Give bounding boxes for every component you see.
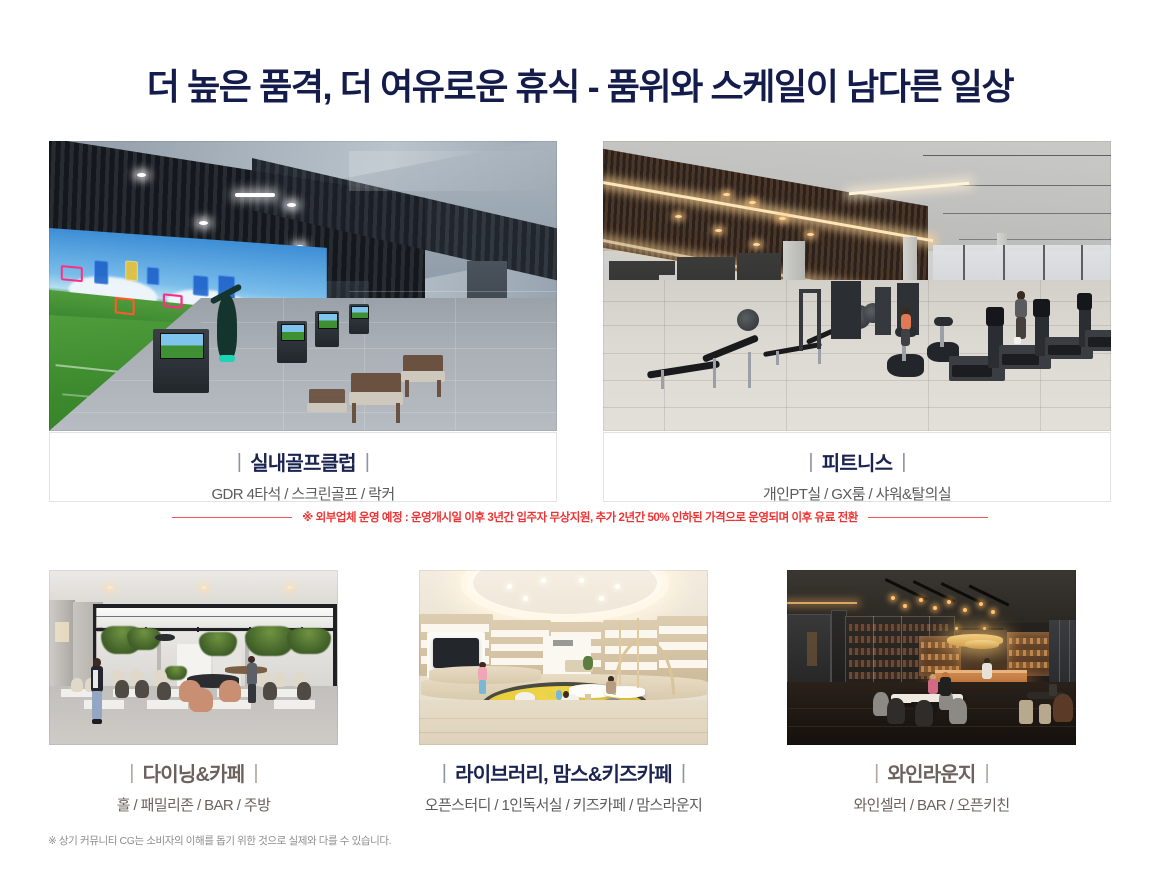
divider-bar-right: | <box>244 762 266 784</box>
image-dining-and-cafe <box>49 570 338 745</box>
image-fitness-center <box>603 141 1111 431</box>
page-title: 더 높은 품격, 더 여유로운 휴식 - 품위와 스케일이 남다른 일상 <box>0 58 1160 110</box>
image-indoor-golf-club <box>49 141 557 431</box>
caption-subtitle: 와인셀러 / BAR / 오픈키친 <box>787 794 1076 815</box>
divider-bar-left: | <box>865 762 887 784</box>
figure-runner <box>1013 291 1029 345</box>
divider-bar-right: | <box>892 451 914 473</box>
note-rule-right <box>868 517 988 518</box>
disclaimer-footnote: ※ 상기 커뮤니티 CG는 소비자의 이해를 돕기 위한 것으로 실제와 다를 … <box>48 833 391 848</box>
caption-panel-fitness-center: |피트니스| 개인PT실 / GX룸 / 샤워&탈의실 <box>603 432 1111 502</box>
image-wine-lounge <box>787 570 1076 745</box>
divider-bar-right: | <box>356 451 378 473</box>
caption-title: |와인라운지| <box>787 758 1076 787</box>
caption-title-text: 라이브러리, 맘스&키즈카페 <box>455 764 672 786</box>
divider-bar-left: | <box>799 451 821 473</box>
caption-title-text: 다이닝&카페 <box>143 764 245 786</box>
divider-bar-right: | <box>672 762 694 784</box>
caption-library-kids-cafe: |라이브러리, 맘스&키즈카페| 오픈스터디 / 1인독서실 / 키즈카페 / … <box>419 758 708 815</box>
figure-guest-right <box>939 672 952 702</box>
caption-wine-lounge: |와인라운지| 와인셀러 / BAR / 오픈키친 <box>787 758 1076 815</box>
image-library-kids-cafe <box>419 570 708 745</box>
figure-guest-left <box>927 674 939 700</box>
caption-panel-indoor-golf-club: |실내골프클럽| GDR 4타석 / 스크린골프 / 락커 <box>49 432 557 502</box>
figure-standing-woman <box>245 656 258 706</box>
divider-bar-left: | <box>228 451 250 473</box>
figure-cyclist <box>899 307 913 353</box>
figure-bartender <box>981 658 993 684</box>
figure-seated-child <box>605 676 617 702</box>
operation-note-row: ※ 외부업체 운영 예정 : 운영개시일 이후 3년간 입주자 무상지원, 추가… <box>0 509 1160 525</box>
divider-bar-right: | <box>976 762 998 784</box>
note-rule-left <box>172 517 292 518</box>
caption-title-text: 와인라운지 <box>888 764 976 786</box>
divider-bar-left: | <box>433 762 455 784</box>
figure-seated-adult <box>477 662 488 696</box>
caption-subtitle: 오픈스터디 / 1인독서실 / 키즈카페 / 맘스라운지 <box>419 794 708 815</box>
caption-dining-and-cafe: |다이닝&카페| 홀 / 패밀리존 / BAR / 주방 <box>49 758 338 815</box>
caption-subtitle: GDR 4타석 / 스크린골프 / 락커 <box>50 483 556 504</box>
figure-child-lying <box>547 690 569 700</box>
caption-title: |피트니스| <box>604 447 1110 476</box>
marketing-page: 더 높은 품격, 더 여유로운 휴식 - 품위와 스케일이 남다른 일상 <box>0 0 1160 884</box>
caption-title-text: 실내골프클럽 <box>250 453 356 475</box>
operation-note-text: ※ 외부업체 운영 예정 : 운영개시일 이후 3년간 입주자 무상지원, 추가… <box>302 509 858 525</box>
caption-subtitle: 홀 / 패밀리존 / BAR / 주방 <box>49 794 338 815</box>
figure-standing-man <box>89 658 105 724</box>
caption-subtitle: 개인PT실 / GX룸 / 샤워&탈의실 <box>604 483 1110 504</box>
caption-title: |라이브러리, 맘스&키즈카페| <box>419 758 708 787</box>
wall-tv <box>433 638 479 668</box>
divider-bar-left: | <box>120 762 142 784</box>
caption-title-text: 피트니스 <box>822 453 892 475</box>
caption-title: |다이닝&카페| <box>49 758 338 787</box>
caption-title: |실내골프클럽| <box>50 447 556 476</box>
